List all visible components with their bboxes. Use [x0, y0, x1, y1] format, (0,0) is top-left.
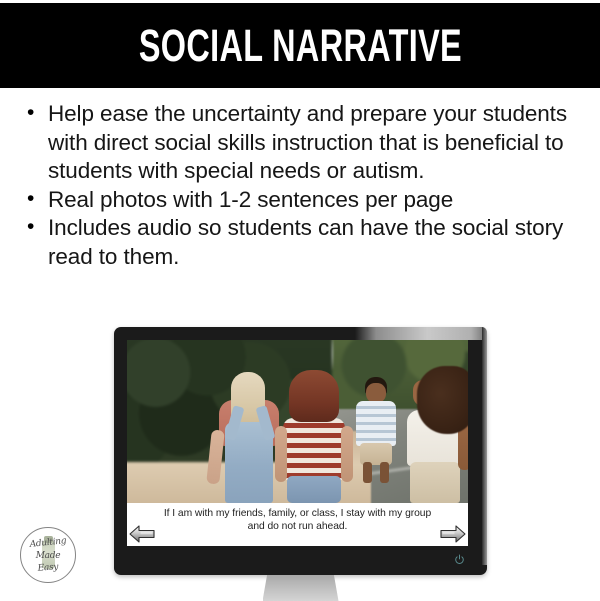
photo-figure-striped-tank-girl — [277, 370, 351, 503]
bullet-item: Help ease the uncertainty and prepare yo… — [22, 100, 582, 186]
watermark-line-2: Made — [20, 551, 76, 561]
caption-panel: If I am with my friends, family, or clas… — [127, 503, 468, 546]
power-icon[interactable] — [454, 552, 465, 563]
arrow-left-icon — [129, 523, 155, 545]
caption-text: If I am with my friends, family, or clas… — [127, 503, 468, 533]
slide-page: Social Narrative Help ease the uncertain… — [0, 0, 600, 600]
brand-watermark: Adulting Made Easy — [20, 527, 78, 585]
photo-figure-curly-hair-girl — [399, 366, 468, 503]
page-title: Social Narrative — [138, 23, 461, 68]
photo-figure-boy — [355, 377, 397, 483]
next-page-button[interactable] — [440, 523, 466, 545]
story-photo — [127, 340, 468, 503]
monitor-stand — [263, 575, 339, 601]
bezel-highlight — [355, 327, 487, 340]
bezel-right-edge — [482, 327, 487, 565]
monitor-mockup: If I am with my friends, family, or clas… — [114, 327, 487, 575]
monitor-screen: If I am with my friends, family, or clas… — [127, 340, 468, 546]
bullet-item: Real photos with 1-2 sentences per page — [22, 186, 582, 215]
header-banner: Social Narrative — [0, 3, 600, 88]
arrow-right-icon — [440, 523, 466, 545]
feature-bullet-list: Help ease the uncertainty and prepare yo… — [22, 100, 582, 271]
power-glyph — [454, 554, 465, 565]
bullet-item: Includes audio so students can have the … — [22, 214, 582, 271]
previous-page-button[interactable] — [129, 523, 155, 545]
monitor-bezel: If I am with my friends, family, or clas… — [114, 327, 487, 575]
